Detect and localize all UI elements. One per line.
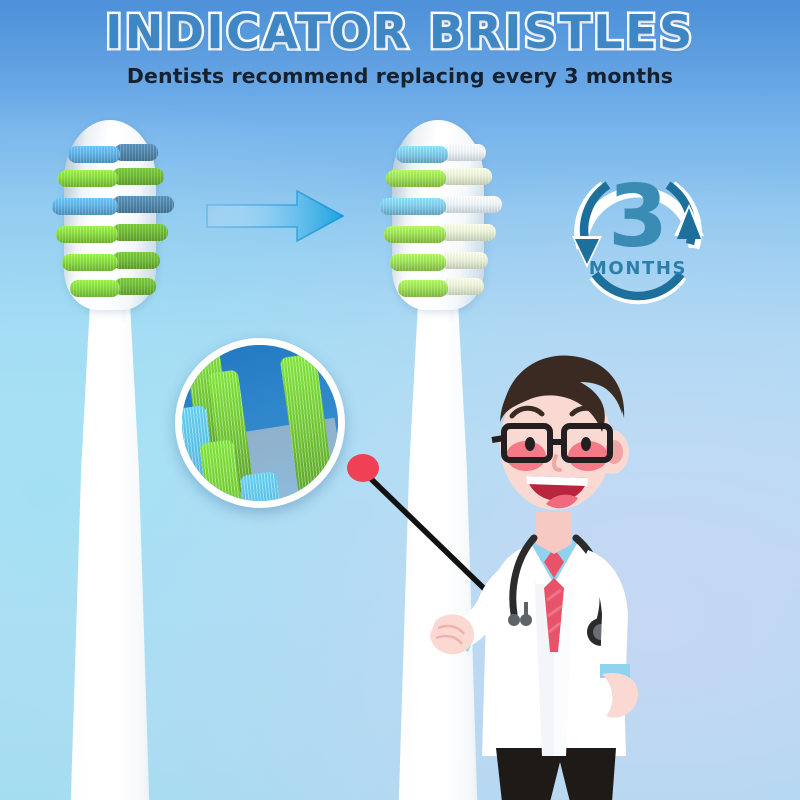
indicator-bristle-tuft (112, 168, 164, 185)
indicator-bristle-tuft (112, 252, 160, 269)
bristle-tuft (380, 198, 446, 215)
bristle-closeup-magnifier (175, 338, 345, 508)
indicator-bristle-tuft (112, 196, 174, 213)
new-toothbrush-head (20, 112, 200, 800)
brush-handle (50, 288, 170, 800)
bristle-tuft (396, 146, 448, 163)
indicator-bristle-tuft (440, 252, 488, 269)
indicator-bristle-tuft (114, 278, 156, 295)
indicator-bristle-tuft (114, 144, 158, 161)
bristle-tuft (62, 254, 118, 271)
right-arrow-icon (205, 189, 345, 243)
bristle-tuft (58, 170, 118, 187)
bristle-tuft (68, 146, 120, 163)
indicator-bristle-tuft (442, 144, 486, 161)
page-title: INDICATOR BRISTLES (0, 9, 800, 57)
indicator-bristle-tuft (440, 224, 496, 241)
product-infographic: INDICATOR BRISTLES Dentists recommend re… (0, 0, 800, 800)
status-badge: 3 MONTHS (548, 152, 728, 312)
badge-label: MONTHS (548, 258, 728, 279)
indicator-bristle-tuft (440, 196, 502, 213)
cartoon-dentist-character (430, 352, 760, 800)
bristle-tuft (386, 170, 446, 187)
badge-number: 3 (548, 174, 728, 260)
header: INDICATOR BRISTLES Dentists recommend re… (0, 0, 800, 88)
indicator-bristle-tuft (440, 168, 492, 185)
indicator-bristle-tuft (112, 224, 168, 241)
bristle-tuft (56, 226, 118, 243)
bristle-tuft (390, 254, 446, 271)
indicator-bristle-tuft (442, 278, 484, 295)
bristle-tuft (384, 226, 446, 243)
page-subtitle: Dentists recommend replacing every 3 mon… (0, 64, 800, 88)
bristle-tuft (70, 280, 120, 297)
magnifier-contents (182, 345, 338, 501)
bristle-tuft (52, 198, 118, 215)
bristle-tuft (398, 280, 448, 297)
